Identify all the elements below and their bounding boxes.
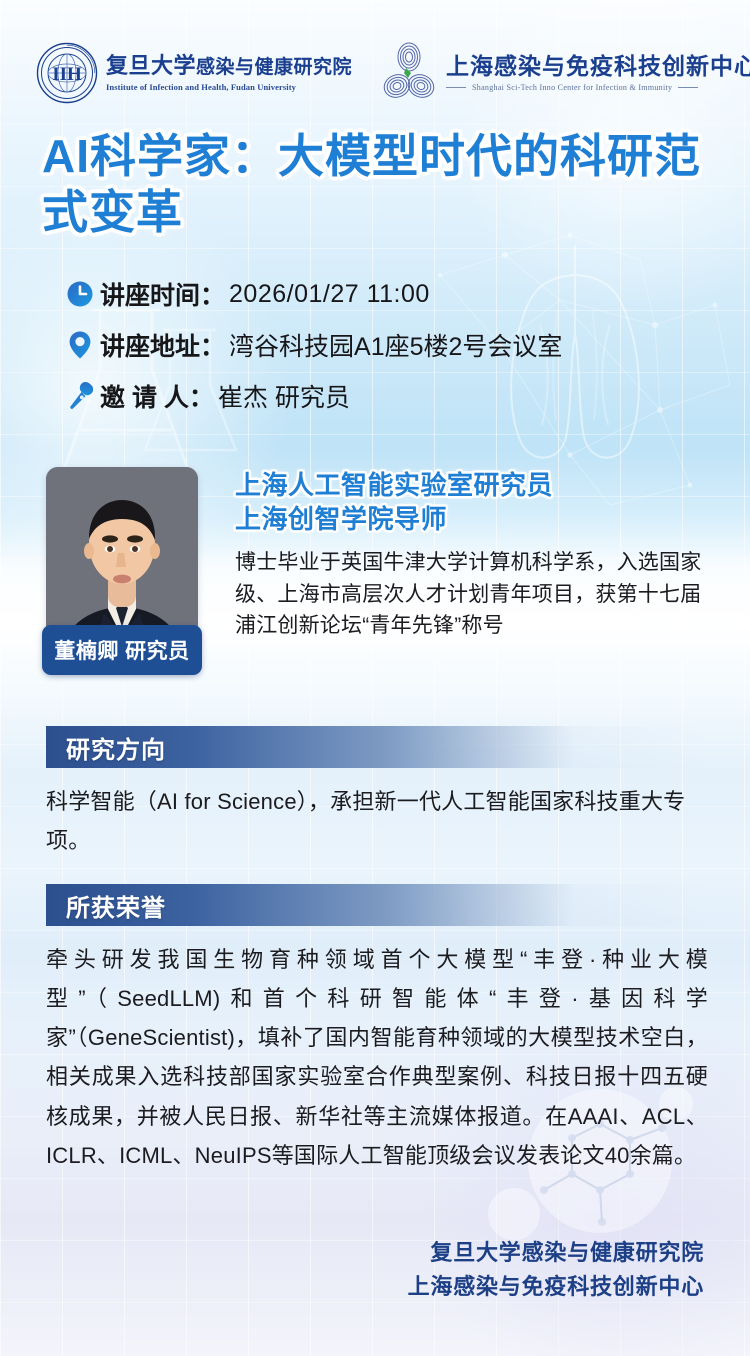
shanghai-center-logo: 上海感染与免疫科技创新中心 Shanghai Sci-Tech Inno Cen… — [380, 42, 750, 104]
fudan-logo-sub: 感染与健康研究院 — [196, 57, 352, 78]
fudan-logo-main: 复旦大学 — [106, 53, 196, 78]
info-row-host: 邀 请 人： 崔杰 研究员 — [66, 374, 706, 418]
clock-icon — [66, 280, 100, 308]
speaker-title-line2: 上海创智学院导师 — [235, 503, 705, 537]
virus-trefoil-icon — [380, 42, 438, 104]
fudan-logo-en: Institute of Infection and Health, Fudan… — [106, 82, 352, 92]
speaker-bio: 博士毕业于英国牛津大学计算机科学系，入选国家级、上海市高层次人才计划青年项目，获… — [235, 547, 705, 643]
rule-right — [678, 87, 698, 88]
poster-title: AI科学家：大模型时代的科研范式变革 — [42, 128, 702, 240]
poster-root: IIH 复旦大学感染与健康研究院 Institute of Infection … — [0, 0, 750, 1356]
center-logo-cn: 上海感染与免疫科技创新中心 — [446, 54, 750, 79]
footer-line-1: 复旦大学感染与健康研究院 — [408, 1236, 704, 1270]
fudan-iih-logo: IIH 复旦大学感染与健康研究院 Institute of Infection … — [36, 42, 352, 104]
rule-left — [446, 87, 466, 88]
iih-seal-icon: IIH — [36, 42, 98, 104]
speaker-text: 上海人工智能实验室研究员 上海创智学院导师 博士毕业于英国牛津大学计算机科学系，… — [235, 469, 705, 642]
section-body-research: 科学智能（AI for Science），承担新一代人工智能国家科技重大专项。 — [46, 782, 708, 860]
info-label-location: 讲座地址： — [100, 327, 225, 363]
info-row-location: 讲座地址： 湾谷科技园A1座5楼2号会议室 — [66, 323, 706, 367]
info-label-host: 邀 请 人： — [100, 378, 214, 414]
section-heading-research: 研究方向 — [46, 726, 706, 768]
speaker-name-badge: 董楠卿 研究员 — [42, 625, 202, 675]
center-logo-en: Shanghai Sci-Tech Inno Center for Infect… — [472, 83, 672, 92]
center-logo-en-wrap: Shanghai Sci-Tech Inno Center for Infect… — [446, 83, 750, 92]
section-heading-research-label: 研究方向 — [66, 730, 166, 765]
svg-text:IIH: IIH — [52, 64, 82, 85]
section-heading-honors: 所获荣誉 — [46, 884, 706, 926]
section-body-honors: 牵头研发我国生物育种领域首个大模型“丰登·种业大模型”（SeedLLM)和首个科… — [46, 940, 708, 1175]
logo-bar: IIH 复旦大学感染与健康研究院 Institute of Infection … — [0, 38, 750, 108]
section-heading-honors-label: 所获荣誉 — [66, 888, 166, 923]
footer-organizations: 复旦大学感染与健康研究院 上海感染与免疫科技创新中心 — [408, 1236, 704, 1304]
speaker-card: 董楠卿 研究员 上海人工智能实验室研究员 上海创智学院导师 博士毕业于英国牛津大… — [46, 467, 706, 672]
info-label-time: 讲座时间： — [100, 276, 225, 312]
speaker-title-line1: 上海人工智能实验室研究员 — [235, 469, 705, 503]
info-value-time: 2026/01/27 11:00 — [229, 280, 430, 309]
footer-line-2: 上海感染与免疫科技创新中心 — [408, 1270, 704, 1304]
event-info-list: 讲座时间： 2026/01/27 11:00 讲座地址： 湾谷科技园A1座5楼2… — [66, 272, 706, 425]
info-row-time: 讲座时间： 2026/01/27 11:00 — [66, 272, 706, 316]
info-value-host: 崔杰 研究员 — [218, 378, 350, 414]
microphone-icon — [66, 381, 100, 411]
info-value-location: 湾谷科技园A1座5楼2号会议室 — [229, 327, 562, 363]
speaker-name: 董楠卿 研究员 — [54, 635, 189, 665]
location-icon — [66, 330, 100, 360]
